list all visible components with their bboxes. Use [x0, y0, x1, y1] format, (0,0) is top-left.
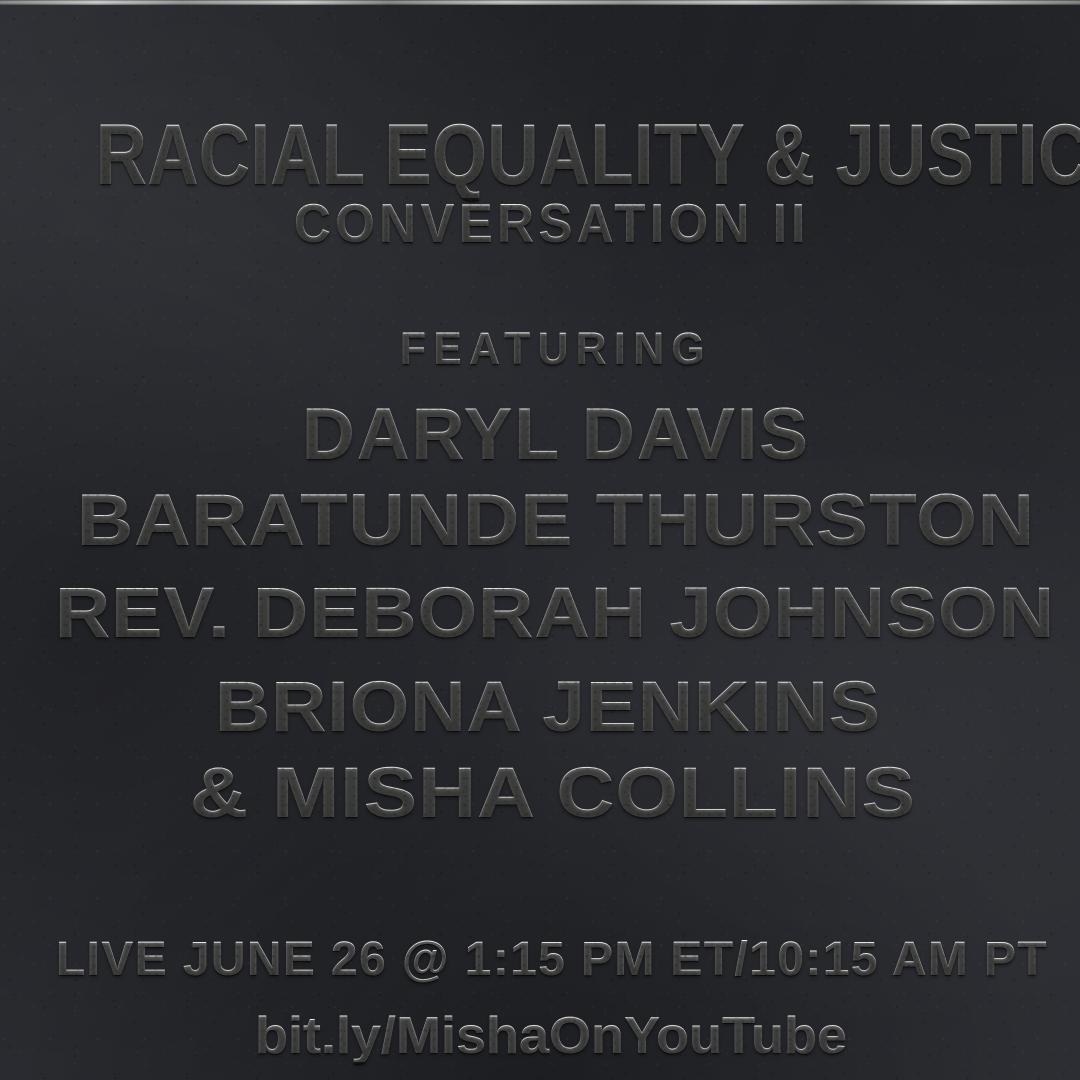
top-edge-light-strip — [0, 0, 1080, 5]
event-announcement-poster: RACIAL EQUALITY & JUSTICE CONVERSATION I… — [0, 0, 1080, 1080]
poster-title: RACIAL EQUALITY & JUSTICE — [96, 112, 984, 198]
event-schedule: LIVE JUNE 26 @ 1:15 PM ET/10:15 AM PT — [15, 936, 1080, 984]
speaker-name-2-text: BARATUNDE THURSTON — [77, 484, 1035, 557]
speaker-name-1: DARYL DAVIS — [15, 398, 1080, 471]
speaker-name-4-text: BRIONA JENKINS — [215, 672, 881, 743]
speaker-name-5: & MISHA COLLINS — [0, 758, 1080, 829]
speaker-name-1-text: DARYL DAVIS — [302, 398, 810, 471]
event-schedule-text: LIVE JUNE 26 @ 1:15 PM ET/10:15 AM PT — [56, 936, 1048, 984]
poster-subtitle-text: CONVERSATION II — [294, 196, 810, 251]
featuring-label: FEATURING — [47, 326, 1065, 371]
speaker-name-3-text: REV. DEBORAH JOHNSON — [55, 578, 1055, 649]
featuring-label-text: FEATURING — [400, 326, 712, 371]
event-link[interactable]: bit.ly/MishaOnYouTube — [0, 1010, 1080, 1062]
speaker-name-3: REV. DEBORAH JOHNSON — [0, 578, 1080, 649]
poster-title-text: RACIAL EQUALITY & JUSTICE — [96, 112, 1080, 198]
event-link-text[interactable]: bit.ly/MishaOnYouTube — [255, 1010, 847, 1062]
speaker-name-4: BRIONA JENKINS — [0, 672, 1080, 743]
speaker-name-2: BARATUNDE THURSTON — [0, 484, 1080, 557]
poster-content: RACIAL EQUALITY & JUSTICE CONVERSATION I… — [0, 0, 1080, 1080]
speaker-name-5-text: & MISHA COLLINS — [190, 758, 916, 829]
poster-subtitle: CONVERSATION II — [54, 196, 1049, 251]
